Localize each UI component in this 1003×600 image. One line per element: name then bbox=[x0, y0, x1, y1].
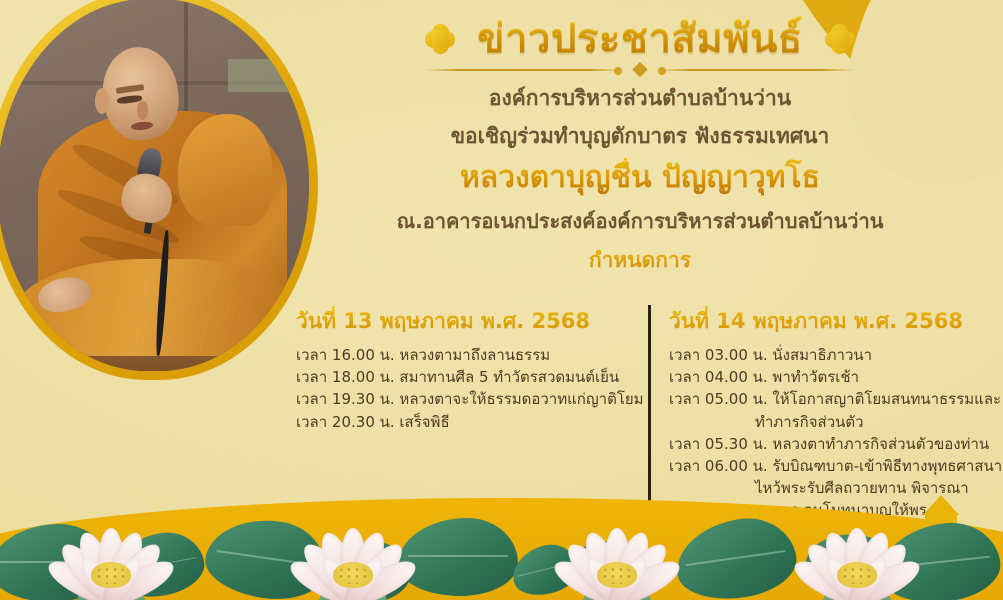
lotus-flower bbox=[278, 504, 428, 600]
day2-heading: วันที่ 14 พฤษภาคม พ.ศ. 2568 bbox=[669, 305, 989, 338]
schedule-item: เวลา 18.00 น. สมาทานศีล 5 ทำวัตรสวดมนต์เ… bbox=[296, 366, 634, 388]
schedule-item: เวลา 20.30 น. เสร็จพิธี bbox=[296, 411, 634, 433]
schedule-column-day2: วันที่ 14 พฤษภาคม พ.ศ. 2568 เวลา 03.00 น… bbox=[651, 305, 989, 522]
monk-name: หลวงตาบุญชื่น ปัญญาวุทโธ bbox=[290, 158, 990, 199]
monk-shoulder bbox=[178, 114, 272, 226]
lotus-flower bbox=[542, 504, 692, 600]
venue-text: ณ.อาคารอเนกประสงค์องค์การบริหารส่วนตำบลบ… bbox=[290, 205, 990, 237]
portrait-photo bbox=[0, 0, 309, 371]
schedule-item-continuation: ทำภารกิจส่วนตัว bbox=[669, 411, 989, 433]
schedule-item: เวลา 03.00 น. นั่งสมาธิภาวนา bbox=[669, 344, 989, 366]
day1-heading: วันที่ 13 พฤษภาคม พ.ศ. 2568 bbox=[296, 305, 634, 338]
quatrefoil-flower-icon-right bbox=[825, 24, 855, 54]
quatrefoil-flower-icon-left bbox=[425, 24, 455, 54]
organization-name: องค์การบริหารส่วนตำบลบ้านว่าน bbox=[290, 83, 990, 115]
agenda-heading: กำหนดการ bbox=[290, 244, 990, 277]
invitation-text: ขอเชิญร่วมทำบุญตักบาตร ฟังธรรมเทศนา bbox=[290, 121, 990, 153]
schedule-item: เวลา 06.00 น. รับบิณฑบาต-เข้าพิธีทางพุทธ… bbox=[669, 455, 989, 477]
poster-canvas: ข่าวประชาสัมพันธ์ องค์การบริหารส่วนตำบลบ… bbox=[0, 0, 1003, 600]
poster-header: ข่าวประชาสัมพันธ์ องค์การบริหารส่วนตำบลบ… bbox=[290, 16, 990, 277]
schedule-item: เวลา 19.30 น. หลวงตาจะให้ธรรมดอวาทแก่ญาต… bbox=[296, 388, 634, 410]
schedule-item: เวลา 05.00 น. ให้โอกาสญาติโยมสนทนาธรรมแล… bbox=[669, 388, 989, 410]
ornamental-divider bbox=[425, 63, 855, 77]
schedule-item: เวลา 16.00 น. หลวงตามาถึงลานธรรม bbox=[296, 344, 634, 366]
monk-portrait bbox=[0, 0, 318, 380]
schedule-section: วันที่ 13 พฤษภาคม พ.ศ. 2568 เวลา 16.00 น… bbox=[296, 305, 986, 522]
schedule-column-day1: วันที่ 13 พฤษภาคม พ.ศ. 2568 เวลา 16.00 น… bbox=[296, 305, 648, 433]
schedule-item: เวลา 04.00 น. พาทำวัตรเช้า bbox=[669, 366, 989, 388]
lotus-flower bbox=[36, 504, 186, 600]
schedule-item: เวลา 05.30 น. หลวงตาทำภารกิจส่วนตัวของท่… bbox=[669, 433, 989, 455]
title-row: ข่าวประชาสัมพันธ์ bbox=[290, 16, 990, 62]
lotus-flower bbox=[782, 504, 932, 600]
page-title: ข่าวประชาสัมพันธ์ bbox=[477, 16, 803, 62]
